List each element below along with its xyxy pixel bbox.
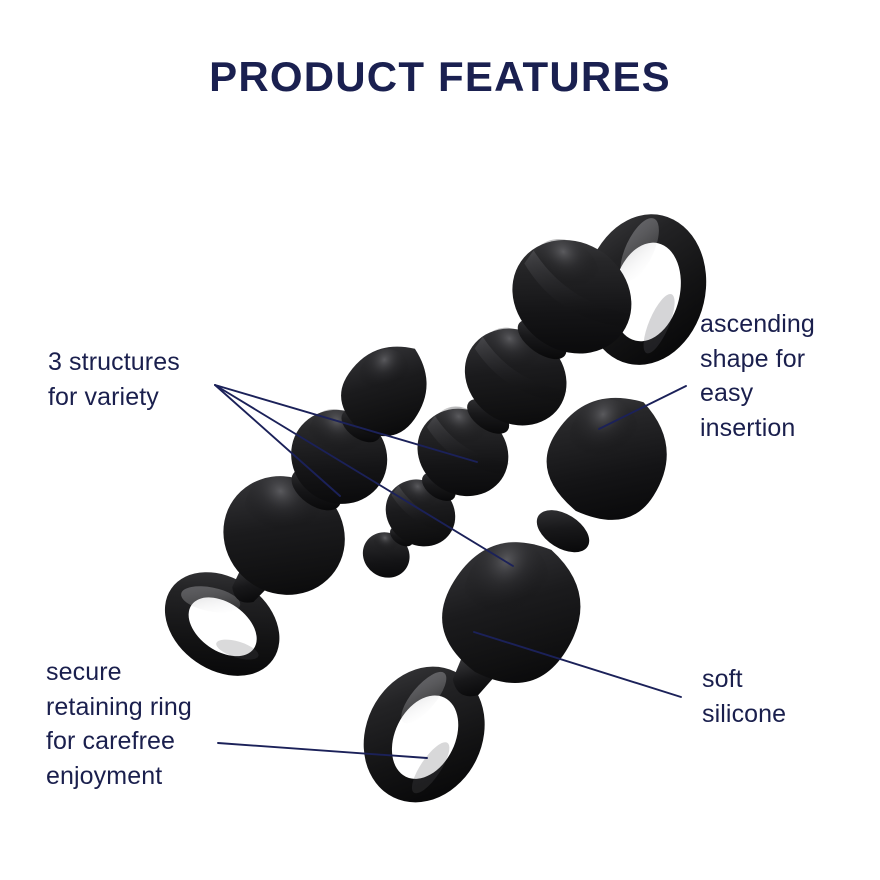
callout-line: soft [702, 662, 786, 697]
callout-line: retaining ring [46, 690, 192, 725]
callout-ascending-shape-for-easy-insertion: ascending shape for easy insertion [700, 307, 815, 445]
callout-secure-retaining-ring-for-carefree-enjoyment: secure retaining ring for carefree enjoy… [46, 655, 192, 793]
callout-line: insertion [700, 411, 815, 446]
callout-3-structures-for-variety: 3 structures for variety [48, 345, 180, 414]
callout-line: for variety [48, 380, 180, 415]
product-features-infographic: PRODUCT FEATURES [0, 0, 880, 880]
callout-soft-silicone: soft silicone [702, 662, 786, 731]
callout-line: silicone [702, 697, 786, 732]
callout-line: easy [700, 376, 815, 411]
callout-line: enjoyment [46, 759, 192, 794]
callout-line: for carefree [46, 724, 192, 759]
callout-line: shape for [700, 342, 815, 377]
callout-line: ascending [700, 307, 815, 342]
callout-line: 3 structures [48, 345, 180, 380]
callout-line: secure [46, 655, 192, 690]
